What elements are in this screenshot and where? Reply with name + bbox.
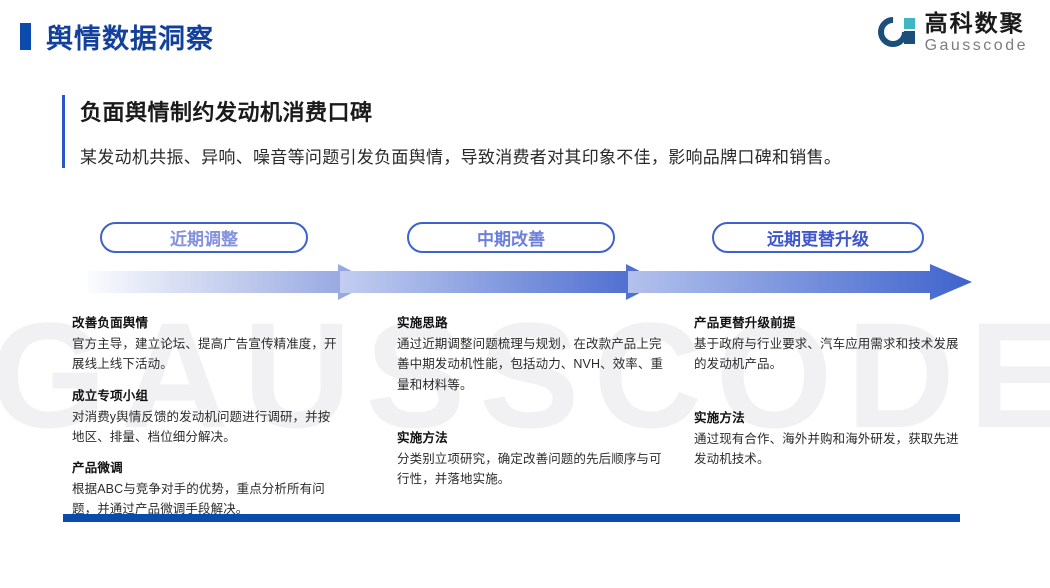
block-title: 实施方法 bbox=[694, 407, 964, 426]
block-title: 产品微调 bbox=[72, 457, 342, 476]
logo-name-en: Gausscode bbox=[925, 38, 1028, 54]
block-body: 官方主导，建立论坛、提高广告宣传精准度，开展线上线下活动。 bbox=[72, 334, 342, 375]
headline-block: 负面舆情制约发动机消费口碑 某发动机共振、异响、噪音等问题引发负面舆情，导致消费… bbox=[62, 95, 1020, 168]
content-block: 实施思路 通过近期调整问题梳理与规划，在改款产品上完善中期发动机性能，包括动力、… bbox=[397, 312, 667, 395]
arrow-segment-2 bbox=[340, 264, 661, 300]
column-spacer bbox=[397, 405, 667, 427]
bottom-accent-bar bbox=[63, 514, 960, 522]
block-title: 实施思路 bbox=[397, 312, 667, 331]
logo-text: 高科数聚 Gausscode bbox=[925, 12, 1028, 54]
page-title-text: 舆情数据洞察 bbox=[46, 17, 214, 56]
gausscode-logo-icon bbox=[878, 14, 916, 52]
stage-pill-near-term[interactable]: 近期调整 bbox=[100, 222, 308, 253]
column-near-term: 改善负面舆情 官方主导，建立论坛、提高广告宣传精准度，开展线上线下活动。 成立专… bbox=[72, 312, 342, 530]
block-body: 通过近期调整问题梳理与规划，在改款产品上完善中期发动机性能，包括动力、NVH、效… bbox=[397, 334, 667, 395]
content-block: 实施方法 通过现有合作、海外并购和海外研发，获取先进发动机技术。 bbox=[694, 407, 964, 470]
block-body: 通过现有合作、海外并购和海外研发，获取先进发动机技术。 bbox=[694, 429, 964, 470]
column-spacer bbox=[694, 385, 964, 407]
slide-header: 舆情数据洞察 高科数聚 Gausscode bbox=[0, 0, 1050, 70]
stage-pill-long-term[interactable]: 远期更替升级 bbox=[712, 222, 924, 253]
stage-pill-mid-term[interactable]: 中期改善 bbox=[407, 222, 615, 253]
stage-pill-row: 近期调整 中期改善 远期更替升级 bbox=[0, 222, 1050, 258]
column-long-term: 产品更替升级前提 基于政府与行业要求、汽车应用需求和技术发展的发动机产品。 实施… bbox=[694, 312, 964, 479]
block-title: 产品更替升级前提 bbox=[694, 312, 964, 331]
timeline-gradient-arrow bbox=[88, 264, 972, 300]
block-title: 成立专项小组 bbox=[72, 385, 342, 404]
content-block: 成立专项小组 对消费y舆情反馈的发动机问题进行调研，并按地区、排量、档位细分解决… bbox=[72, 385, 342, 448]
content-block: 改善负面舆情 官方主导，建立论坛、提高广告宣传精准度，开展线上线下活动。 bbox=[72, 312, 342, 375]
title-bullet-icon bbox=[20, 23, 31, 50]
block-body: 基于政府与行业要求、汽车应用需求和技术发展的发动机产品。 bbox=[694, 334, 964, 375]
block-title: 改善负面舆情 bbox=[72, 312, 342, 331]
content-block: 产品更替升级前提 基于政府与行业要求、汽车应用需求和技术发展的发动机产品。 bbox=[694, 312, 964, 375]
headline-subtitle: 某发动机共振、异响、噪音等问题引发负面舆情，导致消费者对其印象不佳，影响品牌口碑… bbox=[80, 143, 1020, 168]
content-block: 实施方法 分类别立项研究，确定改善问题的先后顺序与可行性，并落地实施。 bbox=[397, 427, 667, 490]
block-title: 实施方法 bbox=[397, 427, 667, 446]
arrow-segment-1 bbox=[88, 264, 373, 300]
block-body: 对消费y舆情反馈的发动机问题进行调研，并按地区、排量、档位细分解决。 bbox=[72, 407, 342, 448]
logo-name-cn: 高科数聚 bbox=[925, 12, 1028, 35]
logo-square-navy bbox=[904, 31, 915, 44]
arrow-segment-3 bbox=[628, 264, 972, 300]
logo-square-teal bbox=[904, 18, 915, 29]
headline-title: 负面舆情制约发动机消费口碑 bbox=[80, 95, 1020, 127]
block-body: 分类别立项研究，确定改善问题的先后顺序与可行性，并落地实施。 bbox=[397, 449, 667, 490]
column-mid-term: 实施思路 通过近期调整问题梳理与规划，在改款产品上完善中期发动机性能，包括动力、… bbox=[397, 312, 667, 499]
page-title: 舆情数据洞察 bbox=[20, 17, 214, 56]
content-block: 产品微调 根据ABC与竞争对手的优势，重点分析所有问题，并通过产品微调手段解决。 bbox=[72, 457, 342, 520]
brand-logo: 高科数聚 Gausscode bbox=[878, 12, 1028, 54]
